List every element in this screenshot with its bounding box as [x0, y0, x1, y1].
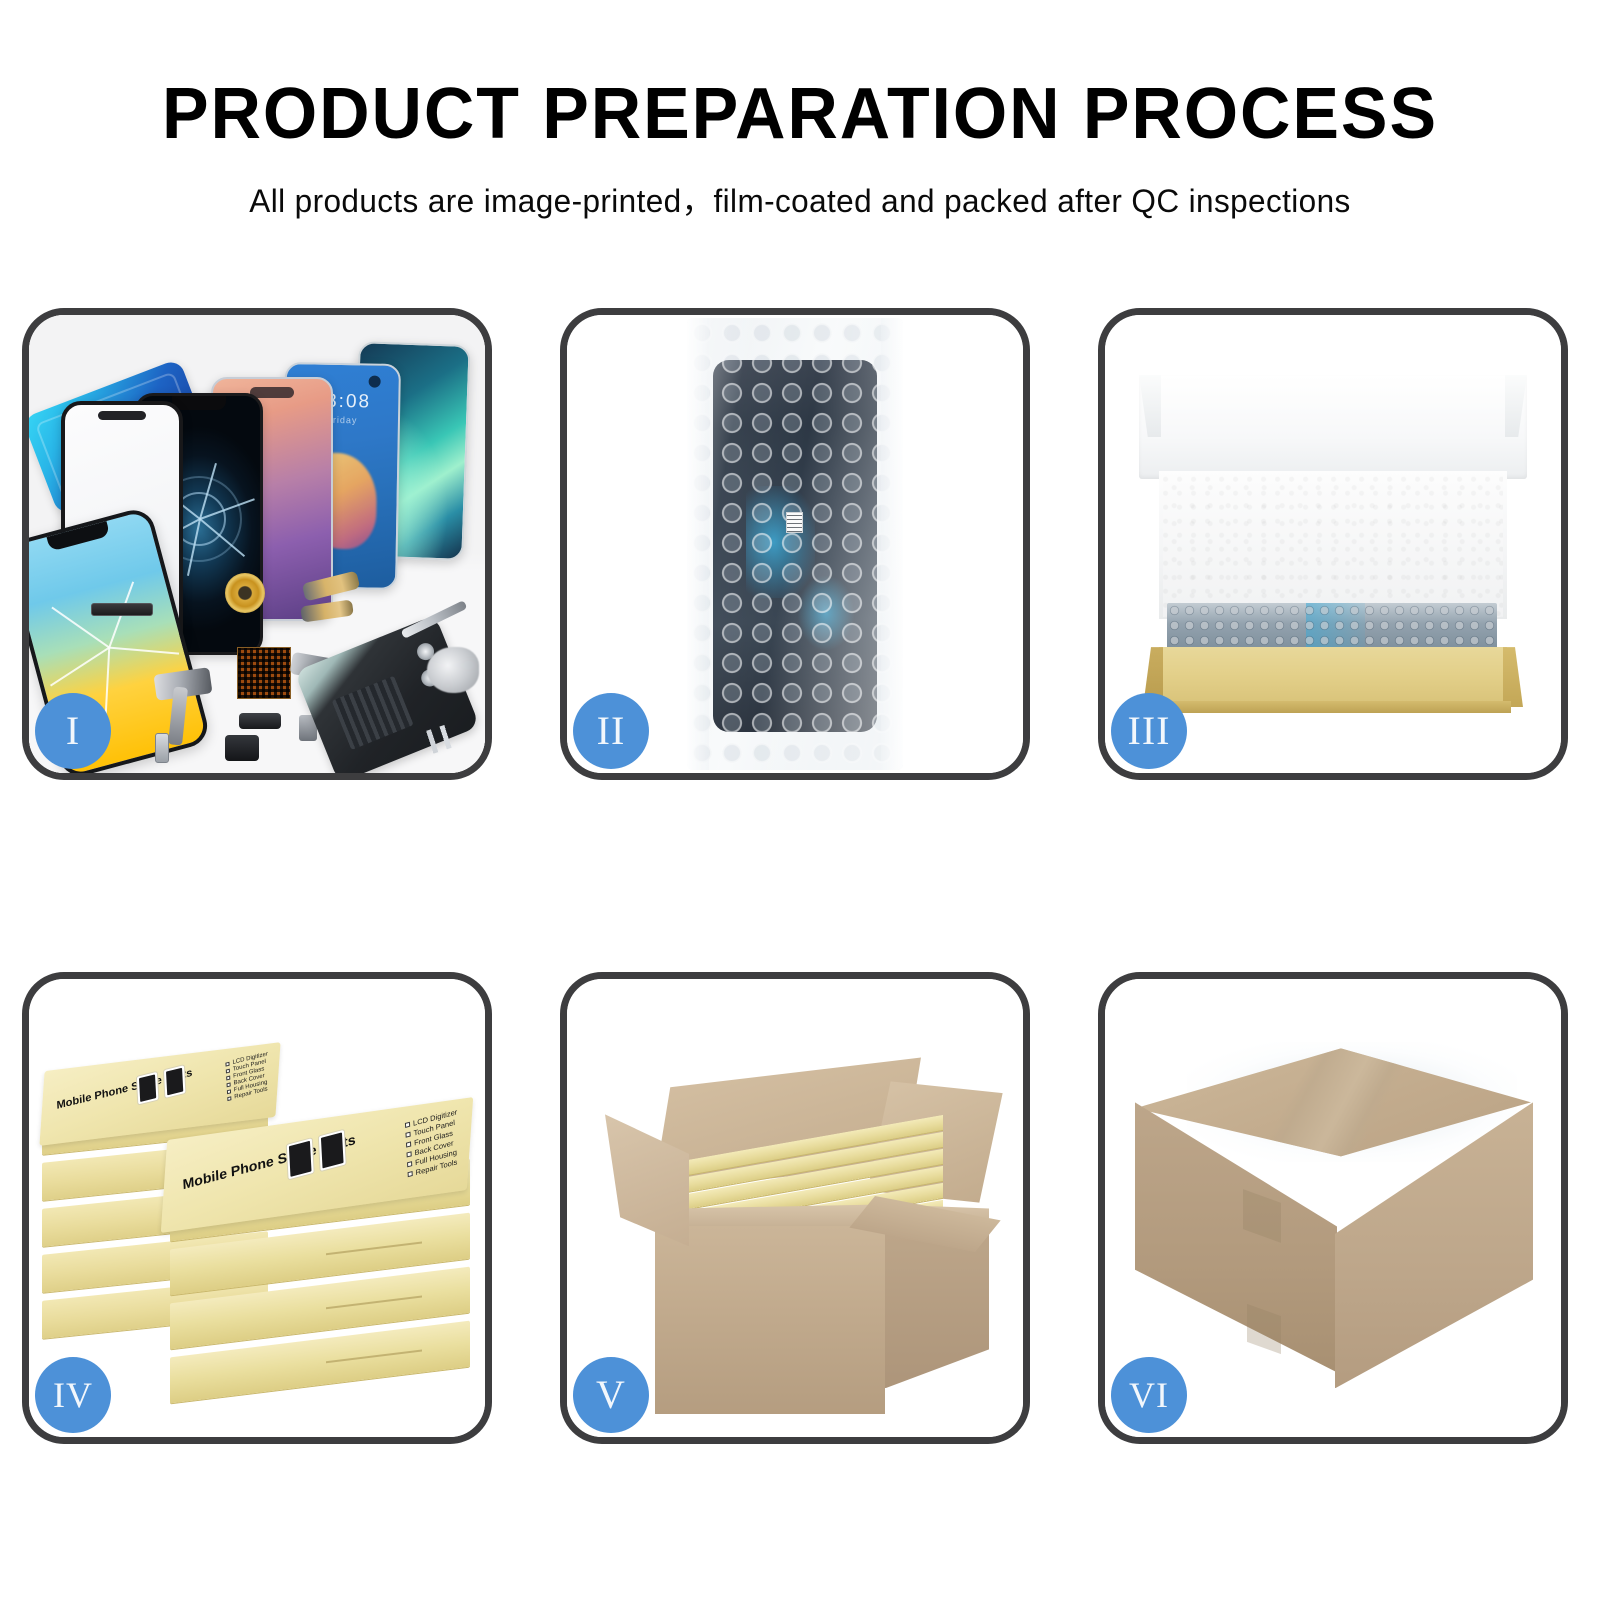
step-badge-5: V	[573, 1357, 649, 1433]
page-subtitle: All products are image-printed，film-coat…	[12, 176, 1588, 222]
checkbox-icon	[226, 1062, 230, 1067]
checkbox-icon	[404, 1122, 409, 1128]
checkbox-icon	[226, 1069, 230, 1074]
process-step-grid: 08:08 Friday	[22, 308, 1588, 1444]
plastic-sheen	[687, 318, 903, 770]
checkbox-icon	[227, 1097, 231, 1102]
bubble-wrap-package	[687, 318, 903, 770]
wireless-charging-coil	[225, 573, 265, 613]
shatter-line	[109, 646, 179, 654]
step-numeral: V	[596, 1375, 626, 1415]
checkbox-icon	[405, 1132, 410, 1138]
board-connector	[91, 603, 153, 616]
repair-tool-brush	[427, 647, 479, 693]
process-step-panel-5: V	[560, 972, 1030, 1444]
box-lid	[1139, 375, 1527, 479]
step-numeral: I	[66, 711, 80, 751]
retail-box-checklist: LCD Digitizer Touch Panel Front Glass Ba…	[226, 1052, 271, 1103]
step-numeral: III	[1128, 711, 1171, 751]
foam-insert	[1163, 475, 1503, 617]
step-numeral: IV	[53, 1377, 93, 1413]
step-badge-1: I	[35, 693, 111, 769]
box-base	[1159, 647, 1507, 707]
step-numeral: II	[597, 711, 626, 751]
sealed-shipping-carton	[1127, 1048, 1539, 1404]
phone-thumbnail	[318, 1128, 347, 1172]
process-step-panel-2: II	[560, 308, 1030, 780]
checkbox-icon	[407, 1171, 412, 1177]
module-component-b	[225, 735, 259, 761]
step-badge-6: VI	[1111, 1357, 1187, 1433]
step-badge-3: III	[1111, 693, 1187, 769]
step-badge-4: IV	[35, 1357, 111, 1433]
page-title: PRODUCT PREPARATION PROCESS	[24, 78, 1576, 150]
open-mailer-box	[1137, 375, 1529, 731]
checkbox-icon	[406, 1152, 411, 1158]
checkbox-icon	[406, 1142, 411, 1148]
carton-front-face	[655, 1226, 885, 1414]
retail-box-stack: Mobile Phone Spare Parts LCD Digitizer T…	[42, 1013, 472, 1421]
box-front-lip	[1155, 701, 1511, 713]
retail-box-thumbnails	[136, 1064, 187, 1106]
infographic-page: PRODUCT PREPARATION PROCESS All products…	[0, 0, 1600, 1600]
retail-box-checklist: LCD Digitizer Touch Panel Front Glass Ba…	[404, 1108, 459, 1180]
checkbox-icon	[226, 1076, 230, 1081]
process-step-panel-1: 08:08 Friday	[22, 308, 492, 780]
retail-box-thumbnails	[286, 1128, 347, 1180]
checkbox-icon	[407, 1161, 412, 1167]
phone-thumbnail	[163, 1064, 187, 1099]
shatter-line	[105, 647, 111, 717]
phone-thumbnail	[286, 1137, 315, 1181]
process-step-panel-4: Mobile Phone Spare Parts LCD Digitizer T…	[22, 972, 492, 1444]
shatter-line	[50, 646, 110, 686]
notch-icon	[172, 396, 226, 410]
open-shipping-carton	[599, 1030, 991, 1422]
checkbox-icon	[227, 1083, 231, 1088]
punch-hole-camera-icon	[369, 375, 381, 387]
bga-chip	[237, 647, 291, 699]
process-step-panel-6: VI	[1098, 972, 1568, 1444]
sim-tray	[155, 733, 169, 763]
module-component-a	[239, 713, 281, 729]
step-badge-2: II	[573, 693, 649, 769]
phone-thumbnail	[136, 1071, 160, 1106]
process-step-panel-3: III	[1098, 308, 1568, 780]
step-numeral: VI	[1129, 1377, 1169, 1413]
checkbox-icon	[227, 1090, 231, 1095]
earpiece-slot-icon	[98, 411, 146, 420]
page-header: PRODUCT PREPARATION PROCESS All products…	[0, 78, 1600, 222]
